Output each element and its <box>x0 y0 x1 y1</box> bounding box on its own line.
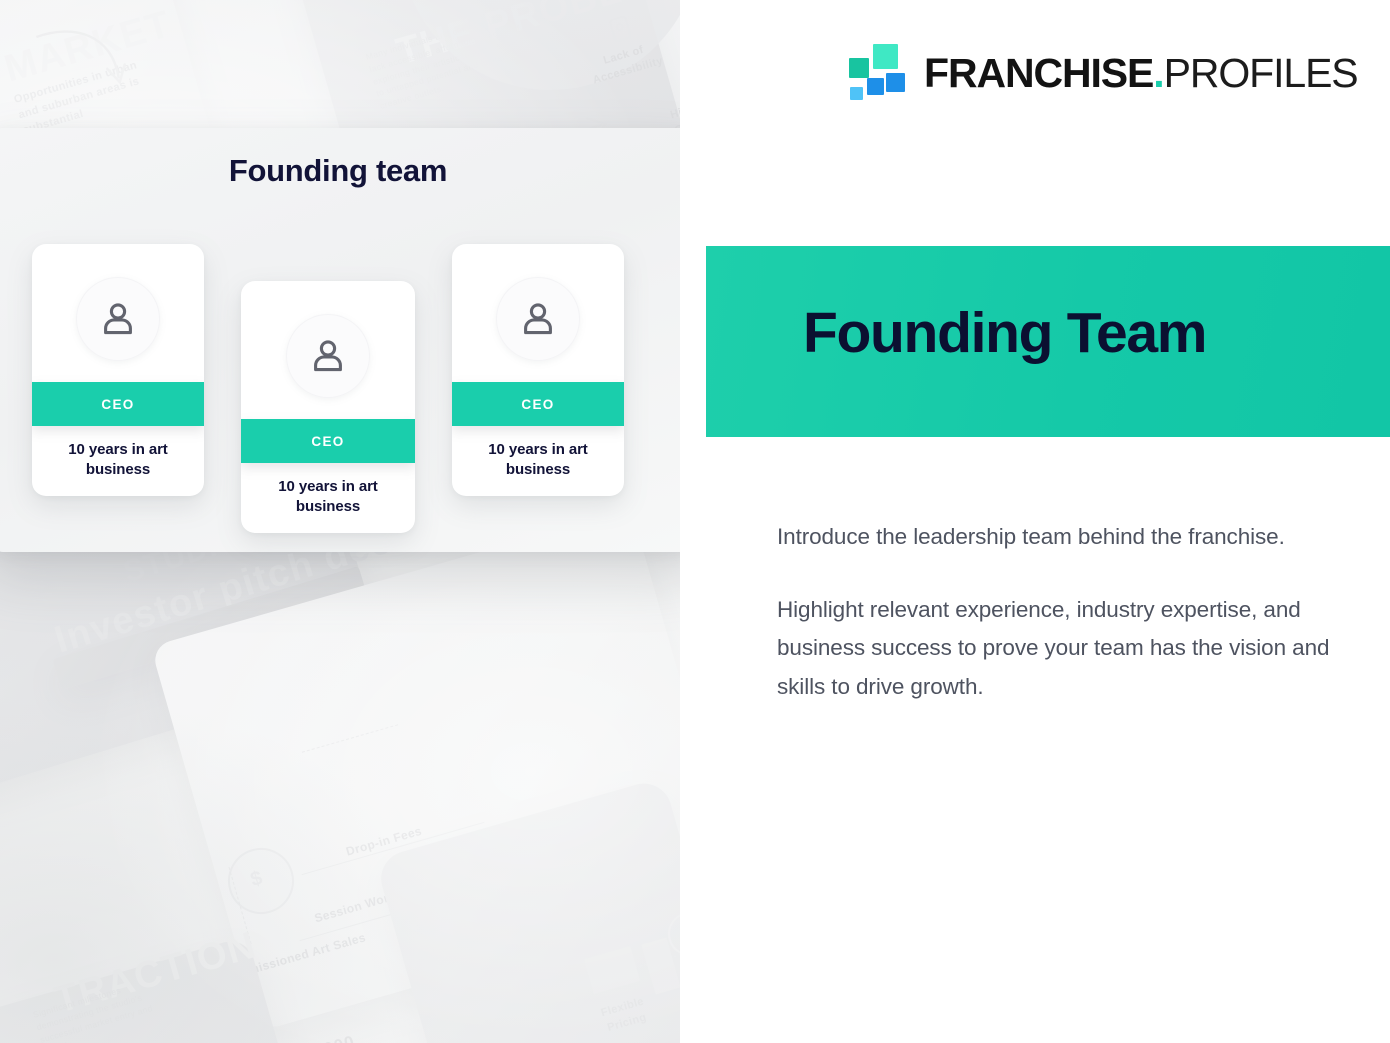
role-band: CEO <box>241 419 415 463</box>
logo-square-blue <box>867 78 884 95</box>
logo-square-mint <box>873 44 898 69</box>
person-icon <box>516 297 560 341</box>
team-member-card[interactable]: CEO 10 years in art business <box>241 281 415 533</box>
person-icon <box>306 334 350 378</box>
member-caption: 10 years in art business <box>251 477 405 517</box>
avatar <box>286 314 370 398</box>
description-paragraph: Introduce the leadership team behind the… <box>777 518 1343 557</box>
member-caption: 10 years in art business <box>42 440 194 480</box>
avatar-container <box>452 264 624 374</box>
right-content-panel: FRANCHISE . PROFILES Founding Team Intro… <box>680 0 1390 1043</box>
slide-preview-title: Founding team <box>0 153 690 189</box>
logo-word-bold: FRANCHISE <box>924 53 1153 94</box>
logo-square-blue-dark <box>886 73 905 92</box>
title-banner: Founding Team <box>706 246 1390 437</box>
description-block: Introduce the leadership team behind the… <box>777 518 1343 707</box>
role-label: CEO <box>311 434 344 449</box>
background-label: 1,000 <box>306 1032 357 1043</box>
role-band: CEO <box>32 382 204 426</box>
avatar <box>496 277 580 361</box>
logo-wordmark: FRANCHISE . PROFILES <box>924 53 1358 94</box>
role-label: CEO <box>101 397 134 412</box>
team-member-card[interactable]: CEO 10 years in art business <box>452 244 624 496</box>
role-band: CEO <box>452 382 624 426</box>
avatar-container <box>241 301 415 411</box>
slide-preview-card[interactable]: Founding team CEO 10 years in art busine… <box>0 128 704 552</box>
description-paragraph: Highlight relevant experience, industry … <box>777 591 1343 707</box>
slide-canvas: MARKET Opportunities in urban and suburb… <box>0 0 1390 1043</box>
avatar <box>76 277 160 361</box>
role-label: CEO <box>521 397 554 412</box>
logo-dot: . <box>1153 53 1163 94</box>
logo-square-teal <box>849 58 869 78</box>
avatar-container <box>32 264 204 374</box>
logo-mark-icon <box>848 42 906 104</box>
person-icon <box>96 297 140 341</box>
logo-word-light: PROFILES <box>1164 53 1358 94</box>
logo-square-sky <box>850 87 863 100</box>
page-title: Founding Team <box>803 300 1206 366</box>
member-caption: 10 years in art business <box>462 440 614 480</box>
brand-logo[interactable]: FRANCHISE . PROFILES <box>848 42 1358 104</box>
team-member-card[interactable]: CEO 10 years in art business <box>32 244 204 496</box>
